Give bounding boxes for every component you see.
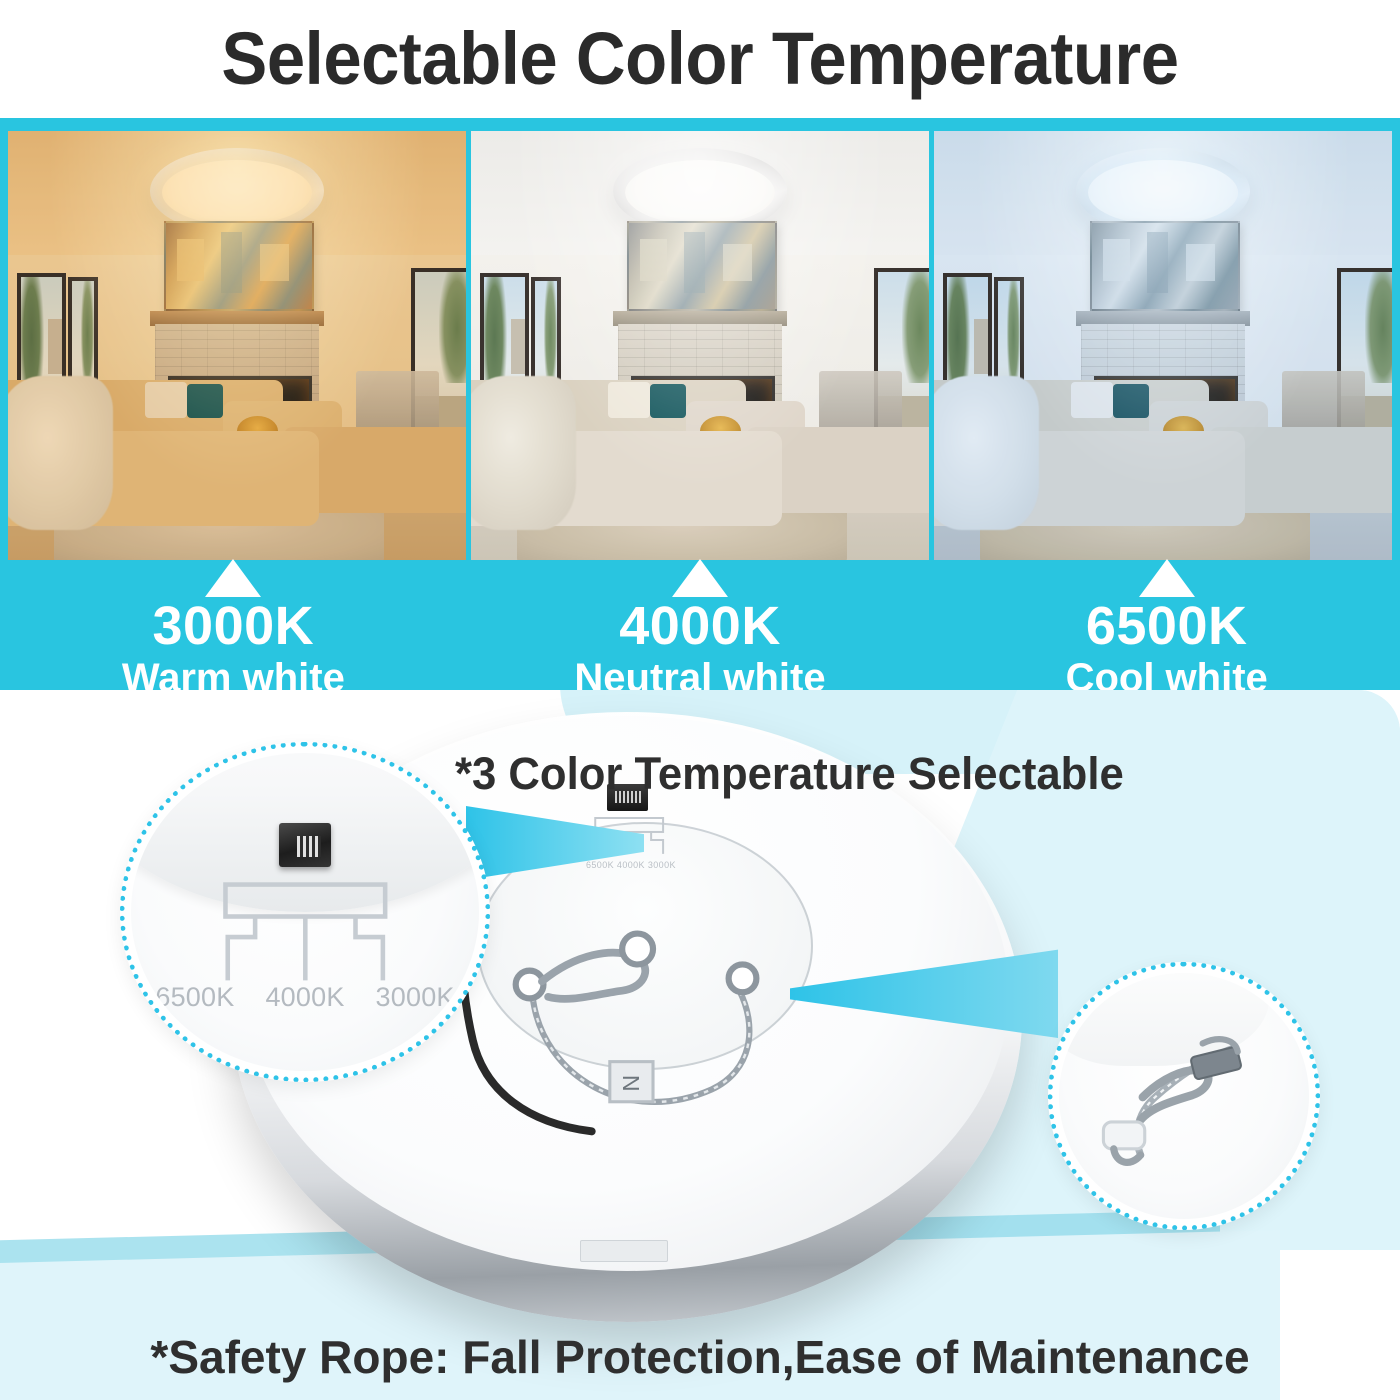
switch-label-6500k: 6500K xyxy=(155,982,234,1013)
triangle-up-icon xyxy=(1139,559,1195,597)
temperature-label-3000k: 3000K Warm white xyxy=(0,560,467,690)
fur-throw xyxy=(471,376,576,530)
pillow-cream xyxy=(145,382,186,418)
switch-callout-labels: 6500K 4000K 3000K xyxy=(155,982,454,1013)
wall-art xyxy=(627,221,778,311)
pillow-teal xyxy=(650,384,687,418)
pillow-teal xyxy=(187,384,224,418)
dip-switch-icon xyxy=(279,823,331,868)
kelvin-value: 4000K xyxy=(467,599,934,653)
product-infographic: Selectable Color Temperature xyxy=(0,0,1400,1400)
switch-label-4000k: 4000K xyxy=(265,982,344,1013)
scene-panel-cool xyxy=(934,131,1392,560)
selectable-heading: *3 Color Temperature Selectable xyxy=(455,748,1124,800)
kelvin-value: 6500K xyxy=(933,599,1400,653)
switch-label-3000k: 3000K xyxy=(376,982,455,1013)
svg-text:N: N xyxy=(619,1075,645,1092)
kelvin-value: 3000K xyxy=(0,599,467,653)
safety-rope-carabiner-icon xyxy=(1069,998,1299,1205)
scene-panel-warm xyxy=(8,131,466,560)
pillow-cream xyxy=(1071,382,1112,418)
temperature-label-6500k: 6500K Cool white xyxy=(933,560,1400,690)
page-title: Selectable Color Temperature xyxy=(49,2,1351,114)
safety-rope: N xyxy=(437,895,832,1157)
pillow-cream xyxy=(608,382,649,418)
fur-throw xyxy=(8,376,113,530)
safety-rope-caption: *Safety Rope: Fall Protection,Ease of Ma… xyxy=(0,1330,1400,1384)
temperature-label-4000k: 4000K Neutral white xyxy=(467,560,934,690)
pillow-teal xyxy=(1113,384,1150,418)
safety-rope-callout xyxy=(1048,962,1320,1230)
switch-wiring-diagram-icon xyxy=(187,880,424,985)
wall-art xyxy=(164,221,315,311)
triangle-up-icon xyxy=(205,559,261,597)
fur-throw xyxy=(934,376,1039,530)
comparison-photo-strip xyxy=(8,131,1392,560)
switch-callout: 6500K 4000K 3000K xyxy=(120,742,490,1082)
wall-art xyxy=(1090,221,1241,311)
temperature-label-row: 3000K Warm white 4000K Neutral white 650… xyxy=(0,560,1400,690)
scene-panel-neutral xyxy=(471,131,929,560)
triangle-up-icon xyxy=(672,559,728,597)
lamp-clip-notch xyxy=(580,1240,669,1263)
